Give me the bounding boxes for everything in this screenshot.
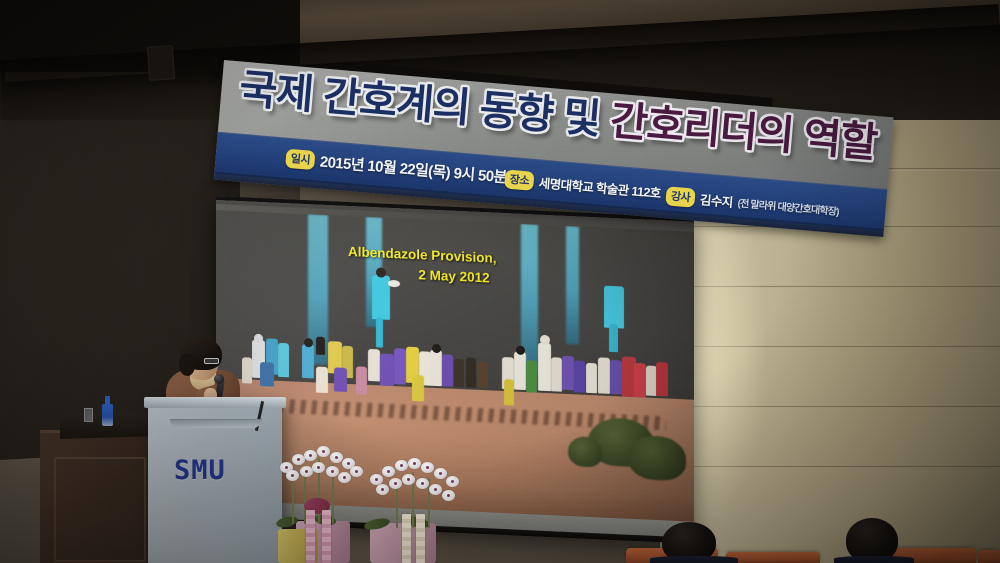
ceiling-speaker-icon xyxy=(147,45,175,81)
presenter-hair-side xyxy=(179,354,195,376)
drinking-glass xyxy=(84,408,93,422)
banner-value-location: 세명대학교 학술관 112호 xyxy=(538,172,661,201)
banner-value-speaker: 김수지 xyxy=(699,189,733,211)
flower-arrangements xyxy=(274,440,484,563)
banner-chip-speaker: 강사 xyxy=(665,186,696,207)
lectern-top xyxy=(144,397,286,408)
banner-value-datetime: 2015년 10월 22일(목) 9시 50분 xyxy=(319,151,508,188)
flower-plant-right xyxy=(356,452,474,563)
seat-back xyxy=(978,550,1000,563)
lecture-hall-photo: Albendazole Provision, 2 May 2012 국제 간호계… xyxy=(0,0,1000,563)
lectern: SMU xyxy=(148,405,282,563)
smu-logo: SMU xyxy=(174,455,226,486)
bottle-body xyxy=(102,404,113,426)
audience-shoulder xyxy=(834,556,914,563)
lectern-slot xyxy=(170,419,262,428)
banner-chip-datetime: 일시 xyxy=(285,149,316,170)
desk-panel xyxy=(54,457,146,562)
glasses-icon xyxy=(204,358,219,364)
banner-field-location: 장소세명대학교 학술관 112호 xyxy=(504,169,662,201)
water-bottle xyxy=(102,396,113,426)
banner-chip-location: 장소 xyxy=(504,169,535,190)
audience-shoulder xyxy=(650,556,738,563)
banner-value-speaker-suffix: (전 말라위 대양간호대학장) xyxy=(737,194,839,218)
microphone-head-icon xyxy=(214,374,224,384)
seat-back xyxy=(726,552,820,563)
